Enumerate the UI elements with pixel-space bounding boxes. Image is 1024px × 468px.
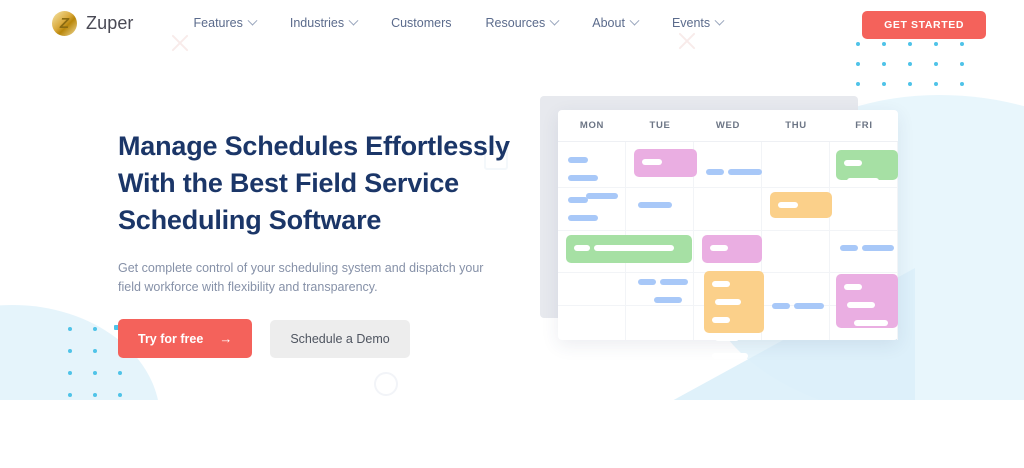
chevron-down-icon — [629, 15, 639, 25]
calendar-day-tue: TUE — [626, 110, 694, 141]
calendar-event-green[interactable] — [566, 235, 692, 263]
calendar-day-mon: MON — [558, 110, 626, 141]
nav-item-customers[interactable]: Customers — [391, 16, 451, 30]
hero-cta-group: Try for free → Schedule a Demo — [118, 319, 518, 358]
try-for-free-label: Try for free — [138, 332, 203, 346]
zuper-z-logo-icon: Z — [52, 11, 77, 36]
calendar-event-green[interactable] — [836, 150, 898, 180]
get-started-button[interactable]: GET STARTED — [862, 11, 986, 39]
dot-grid-top-right — [856, 42, 986, 102]
calendar-event-orange[interactable] — [704, 271, 764, 333]
chevron-down-icon — [550, 15, 560, 25]
nav-label: Industries — [290, 16, 344, 30]
calendar-illustration: MON TUE WED THU FRI — [540, 96, 900, 341]
schedule-demo-button[interactable]: Schedule a Demo — [270, 320, 409, 358]
nav-item-resources[interactable]: Resources — [486, 16, 559, 30]
site-header: Z Zuper Features Industries Customers Re… — [0, 0, 1024, 46]
circle-outline-decoration — [374, 372, 398, 396]
chevron-down-icon — [715, 15, 725, 25]
hero-headline: Manage Schedules Effortlessly With the B… — [118, 128, 518, 239]
calendar-day-thu: THU — [762, 110, 830, 141]
nav-item-industries[interactable]: Industries — [290, 16, 357, 30]
nav-item-features[interactable]: Features — [194, 16, 256, 30]
background-footer-band — [0, 400, 1024, 468]
nav-label: Customers — [391, 16, 451, 30]
chevron-down-icon — [349, 15, 359, 25]
arrow-right-icon: → — [219, 331, 232, 346]
nav-item-about[interactable]: About — [592, 16, 638, 30]
calendar-placeholder-event — [840, 242, 902, 260]
try-for-free-button[interactable]: Try for free → — [118, 319, 252, 358]
calendar-day-header-row: MON TUE WED THU FRI — [558, 110, 898, 142]
calendar-event-pink[interactable] — [634, 149, 697, 177]
nav-label: About — [592, 16, 625, 30]
calendar-grid — [558, 142, 898, 340]
calendar-placeholder-event — [568, 194, 624, 230]
nav-label: Events — [672, 16, 710, 30]
calendar-event-orange[interactable] — [770, 192, 832, 218]
calendar-placeholder-event — [638, 199, 698, 217]
brand-logo[interactable]: Z Zuper — [52, 11, 134, 36]
main-navigation: Features Industries Customers Resources … — [194, 16, 724, 30]
calendar-placeholder-event — [706, 166, 768, 184]
calendar-event-pink[interactable] — [702, 235, 762, 263]
calendar-day-wed: WED — [694, 110, 762, 141]
nav-item-events[interactable]: Events — [672, 16, 723, 30]
nav-label: Resources — [486, 16, 546, 30]
chevron-down-icon — [247, 15, 257, 25]
nav-label: Features — [194, 16, 243, 30]
calendar-event-pink[interactable] — [836, 274, 898, 328]
calendar-placeholder-event — [638, 276, 698, 312]
hero-page: Z Zuper Features Industries Customers Re… — [0, 0, 1024, 468]
calendar-day-fri: FRI — [830, 110, 898, 141]
brand-name: Zuper — [86, 13, 134, 34]
calendar-card: MON TUE WED THU FRI — [558, 110, 898, 340]
hero-content: Manage Schedules Effortlessly With the B… — [118, 128, 518, 358]
calendar-placeholder-event — [772, 300, 834, 318]
hero-subtitle: Get complete control of your scheduling … — [118, 259, 490, 297]
